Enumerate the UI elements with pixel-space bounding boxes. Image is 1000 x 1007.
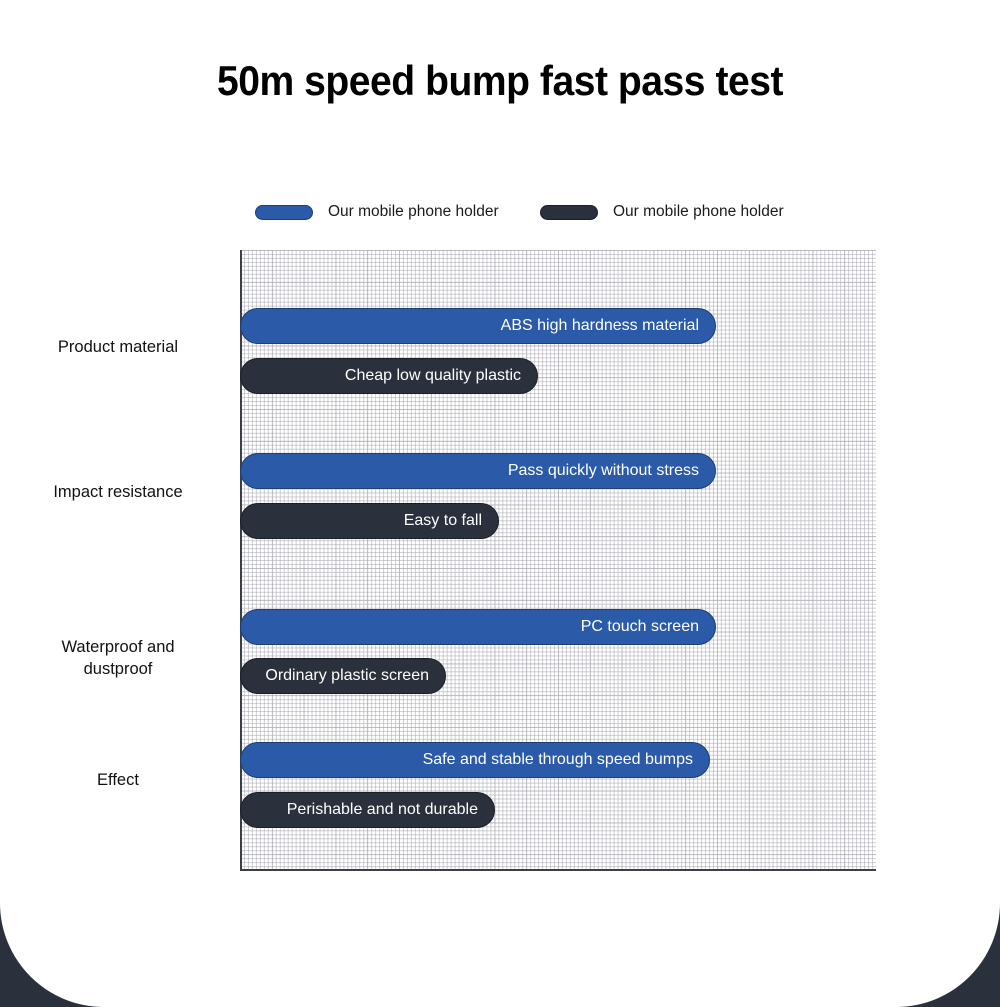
legend-item-secondary[interactable]: Our mobile phone holder — [540, 198, 784, 226]
chart-card: 50m speed bump fast pass test Our mobile… — [0, 0, 1000, 1007]
plot-area: ABS high hardness material Cheap low qua… — [240, 250, 876, 871]
chart-legend: Our mobile phone holder Our mobile phone… — [240, 198, 880, 226]
bar-row[interactable]: Safe and stable through speed bumps — [240, 742, 710, 778]
dark-pill-swatch — [540, 205, 598, 220]
blue-pill-swatch — [255, 205, 313, 220]
legend-label-primary: Our mobile phone holder — [328, 203, 499, 221]
page-title: 50m speed bump fast pass test — [35, 57, 965, 105]
bar-row[interactable]: PC touch screen — [240, 609, 716, 645]
y-axis-label-impact-resistance: Impact resistance — [8, 481, 228, 503]
y-axis-line — [240, 250, 242, 871]
y-axis-label-product-material: Product material — [8, 336, 228, 358]
y-axis-label-waterproof-and-dustproof: Waterproof anddustproof — [18, 636, 218, 680]
y-axis-label-effect: Effect — [8, 769, 228, 791]
bar-row[interactable]: Perishable and not durable — [240, 792, 495, 828]
bar-row[interactable]: ABS high hardness material — [240, 308, 716, 344]
legend-label-secondary: Our mobile phone holder — [613, 203, 784, 221]
x-axis-line — [240, 869, 876, 871]
bar-row[interactable]: Cheap low quality plastic — [240, 358, 538, 394]
legend-item-primary[interactable]: Our mobile phone holder — [255, 198, 499, 226]
bar-row[interactable]: Ordinary plastic screen — [240, 658, 446, 694]
bar-row[interactable]: Pass quickly without stress — [240, 453, 716, 489]
bar-row[interactable]: Easy to fall — [240, 503, 499, 539]
